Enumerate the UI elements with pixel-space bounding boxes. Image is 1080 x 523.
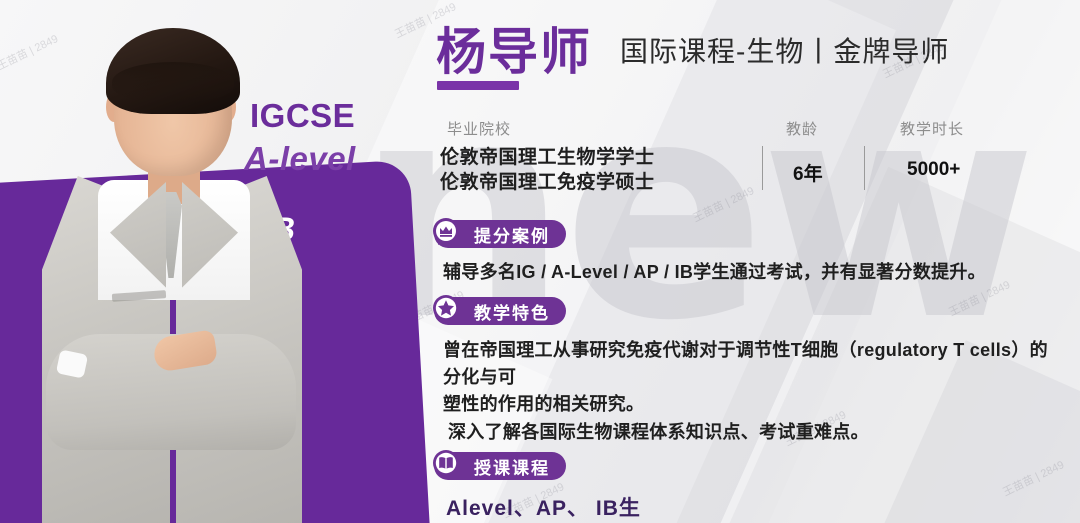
section-badge-label: 提分案例 <box>474 222 550 247</box>
teaching-features-line-1: 曾在帝国理工从事研究免疫代谢对于调节性T细胞（regulatory T cell… <box>443 337 1063 391</box>
teacher-name: 杨导师 <box>436 12 592 84</box>
section-badge-label: 授课课程 <box>474 454 550 479</box>
section-body-teaching-features: 曾在帝国理工从事研究免疫代谢对于调节性T细胞（regulatory T cell… <box>443 337 1063 418</box>
crown-ribbon-icon <box>430 215 468 253</box>
stat-label-years: 教龄 <box>786 118 818 139</box>
title-underline-rule <box>437 81 519 90</box>
teacher-profile-card: new 王苗苗 | 2849 王苗苗 | 2849 王苗苗 | 2849 王苗苗… <box>0 0 1080 523</box>
star-circle-icon <box>430 292 468 330</box>
section-badge-teaching-features: 教学特色 <box>434 297 566 325</box>
section-badge-label: 教学特色 <box>474 299 550 324</box>
school-degree-line-1: 伦敦帝国理工生物学学士 <box>440 145 655 170</box>
stat-value-school: 伦敦帝国理工生物学学士 伦敦帝国理工免疫学硕士 <box>440 145 655 195</box>
stat-divider-2 <box>864 146 865 190</box>
section-body-courses: Alevel、AP、 IB生 <box>446 492 641 522</box>
stat-divider-1 <box>762 146 763 190</box>
teacher-subtitle: 国际课程-生物丨金牌导师 <box>620 30 949 70</box>
section-body-teaching-extra: 深入了解各国际生物课程体系知识点、考试重难点。 <box>448 419 869 446</box>
section-badge-courses: 授课课程 <box>434 452 566 480</box>
stat-label-hours: 教学时长 <box>900 118 964 139</box>
section-body-score-cases: 辅导多名IG / A-Level / AP / IB学生通过考试，并有显著分数提… <box>443 259 986 286</box>
open-book-icon <box>430 447 468 485</box>
stat-value-hours: 5000+ <box>907 159 960 181</box>
school-degree-line-2: 伦敦帝国理工免疫学硕士 <box>440 170 655 195</box>
section-badge-score-cases: 提分案例 <box>434 220 566 248</box>
stat-value-years: 6年 <box>793 159 823 186</box>
stat-label-school: 毕业院校 <box>447 118 511 139</box>
teaching-features-line-2: 塑性的作用的相关研究。 <box>443 391 1063 418</box>
profile-content: 杨导师 国际课程-生物丨金牌导师 毕业院校 教龄 教学时长 伦敦帝国理工生物学学… <box>0 0 1080 523</box>
